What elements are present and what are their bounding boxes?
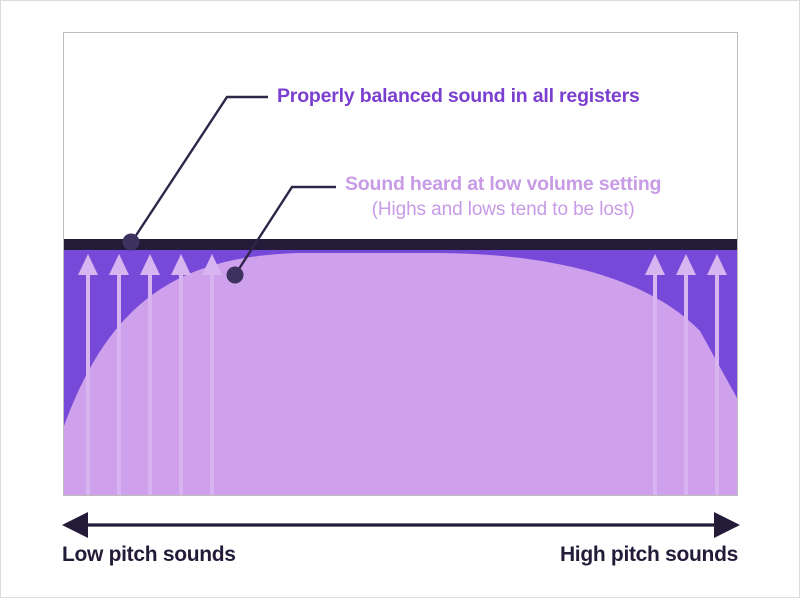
leader-dot-icon: [123, 234, 140, 251]
loudness-diagram: Properly balanced sound in all registers…: [0, 0, 800, 598]
leader-dot-icon: [227, 267, 244, 284]
reference-level-bar: [64, 239, 737, 250]
diagram-canvas: [0, 0, 800, 598]
low-volume-sound-area: [64, 253, 737, 495]
